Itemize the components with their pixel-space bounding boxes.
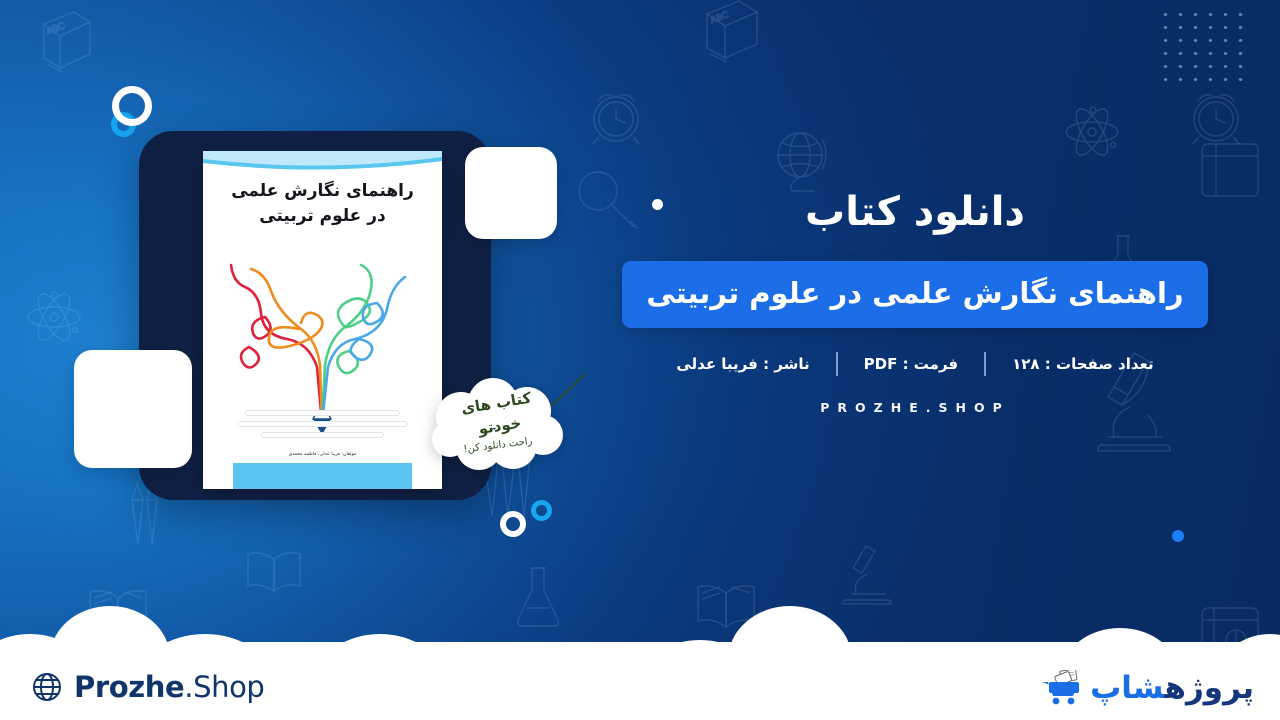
book-cover-lines xyxy=(223,410,422,443)
shopping-cart-icon xyxy=(1040,670,1084,706)
meta-divider xyxy=(836,352,838,376)
meta-divider xyxy=(984,352,986,376)
globe-icon xyxy=(32,672,62,702)
book-cover-illustration xyxy=(209,247,436,437)
prozhe-shop-fa-dark: پروژه xyxy=(1164,670,1254,706)
page-title: دانلود کتاب xyxy=(600,190,1230,234)
blue-dot xyxy=(1172,530,1184,542)
white-ring-bottom xyxy=(500,511,526,537)
book-title-text: راهنمای نگارش علمی در علوم تربیتی xyxy=(638,275,1192,311)
footer-logo-light: .Shop xyxy=(184,670,264,704)
book-cover[interactable]: راهنمای نگارش علمی در علوم تربیتی xyxy=(203,151,442,489)
square-left xyxy=(74,350,192,468)
book-cover-wave xyxy=(203,151,442,177)
brand-watermark: PROZHE.SHOP xyxy=(600,400,1230,415)
book-cover-title-line-2: در علوم تربیتی xyxy=(213,204,432,229)
footer-logo-text: Prozhe.Shop xyxy=(74,670,264,704)
white-ring-large xyxy=(112,86,152,126)
square-top xyxy=(465,147,557,239)
dot-grid-pattern xyxy=(1158,8,1250,82)
book-cover-title: راهنمای نگارش علمی در علوم تربیتی xyxy=(213,179,432,228)
cyan-ring-bottom xyxy=(531,500,552,521)
book-title-banner: راهنمای نگارش علمی در علوم تربیتی xyxy=(622,261,1208,328)
speech-bubble xyxy=(427,377,566,474)
meta-format: فرمت : PDF xyxy=(838,355,984,373)
book-cover-title-line-1: راهنمای نگارش علمی xyxy=(213,179,432,204)
meta-publisher: ناشر : فریبا عدلی xyxy=(650,355,835,373)
prozhe-shop-fa-text: پروژهشاپ xyxy=(1090,673,1254,704)
meta-page-count: تعداد صفحات : ۱۲۸ xyxy=(986,355,1180,373)
footer-logo-left[interactable]: Prozhe.Shop xyxy=(32,670,264,704)
footer-logo-right[interactable]: پروژهشاپ xyxy=(1040,670,1254,706)
book-cover-footer-bar xyxy=(233,463,412,489)
hero-content: دانلود کتاب راهنمای نگارش علمی در علوم ت… xyxy=(600,190,1230,415)
banner-stage: ABC ABC xyxy=(0,0,1280,720)
book-meta-row: ناشر : فریبا عدلی فرمت : PDF تعداد صفحات… xyxy=(600,352,1230,376)
book-cover-authors: مولفان: فریبا عدلی، فاطمه محمدی xyxy=(203,452,442,457)
prozhe-shop-fa-blue: شاپ xyxy=(1090,670,1164,706)
footer-logo-bold: Prozhe xyxy=(74,670,184,704)
